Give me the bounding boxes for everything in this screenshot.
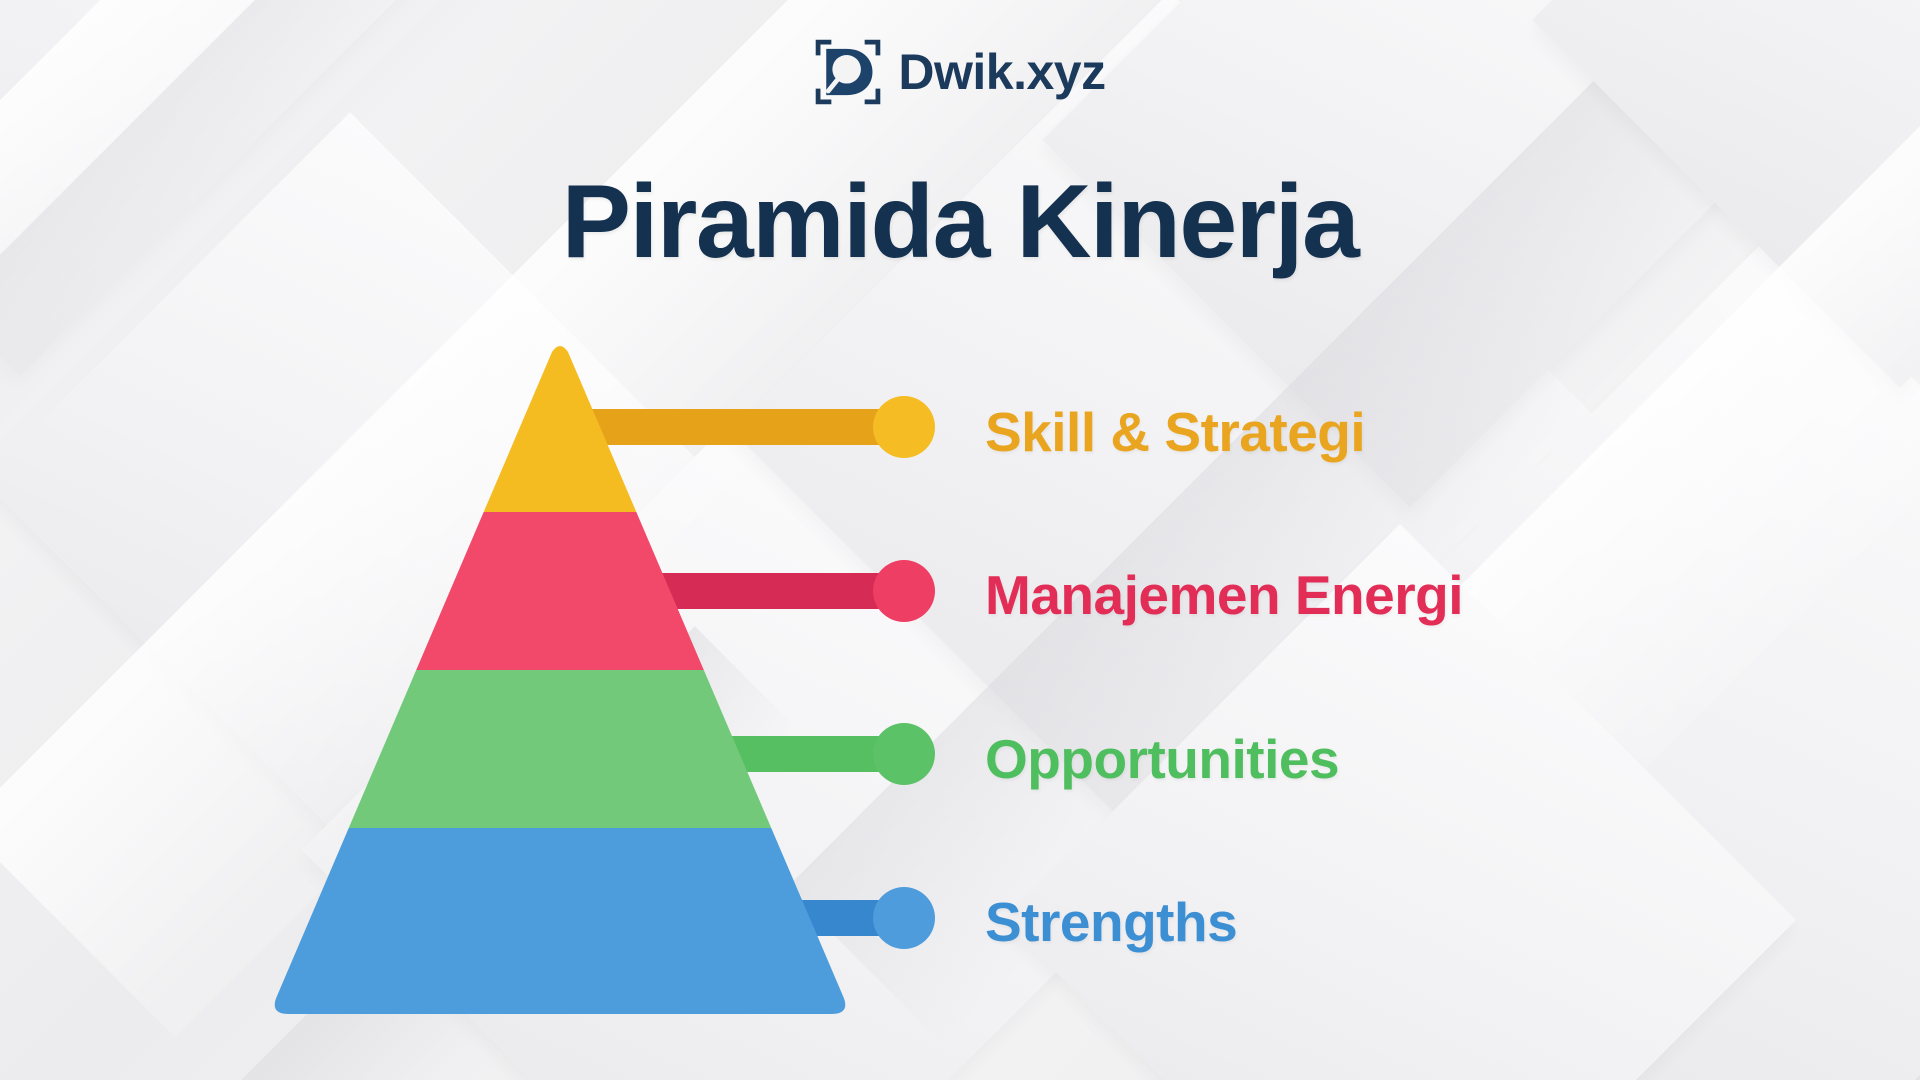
connector-dot-level-3[interactable] (873, 887, 935, 949)
level-label-strengths[interactable]: Strengths (985, 890, 1237, 954)
page-title: Piramida Kinerja (0, 168, 1920, 277)
pyramid-diagram (0, 0, 1920, 1080)
connector-dot-level-2[interactable] (873, 723, 935, 785)
magnifier-d-icon (814, 38, 882, 106)
connector-dot-level-0[interactable] (873, 396, 935, 458)
pyramid-level-3-strengths[interactable] (200, 828, 920, 1028)
level-label-manajemen-energi[interactable]: Manajemen Energi (985, 563, 1463, 627)
connector-bar-level-0 (556, 409, 896, 445)
level-label-skill-strategi[interactable]: Skill & Strategi (985, 400, 1365, 464)
pyramid-svg (0, 0, 1920, 1080)
brand-header: Dwik.xyz (0, 38, 1920, 106)
connector-dot-level-1[interactable] (873, 560, 935, 622)
level-label-opportunities[interactable]: Opportunities (985, 727, 1339, 791)
brand-name: Dwik.xyz (898, 47, 1105, 97)
connector-dots (873, 396, 935, 949)
